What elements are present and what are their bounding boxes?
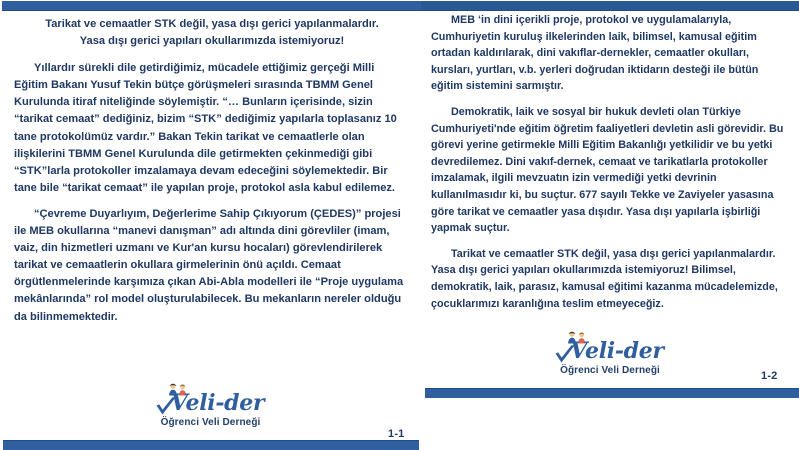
veli-der-logo: Veli-der Öğrenci Veli Derneği (0, 392, 421, 428)
bottom-rule-right (425, 388, 799, 398)
logo-subtitle: Öğrenci Veli Derneği (421, 365, 799, 376)
left-page-body: Tarikat ve cemaatler STK değil, yasa dış… (14, 16, 410, 326)
checkmark-icon (155, 396, 177, 418)
page-number-left: 1-1 (388, 428, 405, 440)
logo-text: Veli-der (556, 338, 663, 364)
right-page-body: MEB ‘in dini içerikli proje, protokol ve… (431, 12, 793, 312)
closing-paragraph: Tarikat ve cemaatler STK değil, yasa dış… (431, 246, 793, 312)
page-number-right: 1-2 (761, 370, 778, 382)
checkmark-icon (554, 344, 576, 366)
bottom-rule-left (3, 440, 419, 450)
headline-line-1: Tarikat ve cemaatler STK değil, yasa dış… (14, 16, 410, 33)
veli-der-logo: Veli-der Öğrenci Veli Derneği (421, 340, 799, 376)
page-left: Tarikat ve cemaatler STK değil, yasa dış… (0, 0, 421, 450)
paragraph: Demokratik, laik ve sosyal bir hukuk dev… (431, 104, 793, 237)
headline-left: Tarikat ve cemaatler STK değil, yasa dış… (14, 16, 410, 50)
headline-line-2: Yasa dışı gerici yapıları okullarımızda … (14, 33, 410, 50)
logo-wordmark-group: Veli-der (556, 340, 663, 362)
top-rule-right (421, 1, 799, 11)
logo-text: Veli-der (157, 390, 264, 416)
paragraph: MEB ‘in dini içerikli proje, protokol ve… (431, 12, 793, 95)
page-right: MEB ‘in dini içerikli proje, protokol ve… (421, 0, 799, 450)
paragraph: “Çevreme Duyarlıyım, Değerlerime Sahip Ç… (14, 206, 410, 326)
top-rule-left (2, 1, 421, 11)
logo-subtitle: Öğrenci Veli Derneği (0, 417, 421, 428)
paragraph: Yıllardır sürekli dile getirdiğimiz, müc… (14, 60, 410, 197)
document-root: Tarikat ve cemaatler STK değil, yasa dış… (0, 0, 799, 450)
logo-wordmark-group: Veli-der (157, 392, 264, 414)
